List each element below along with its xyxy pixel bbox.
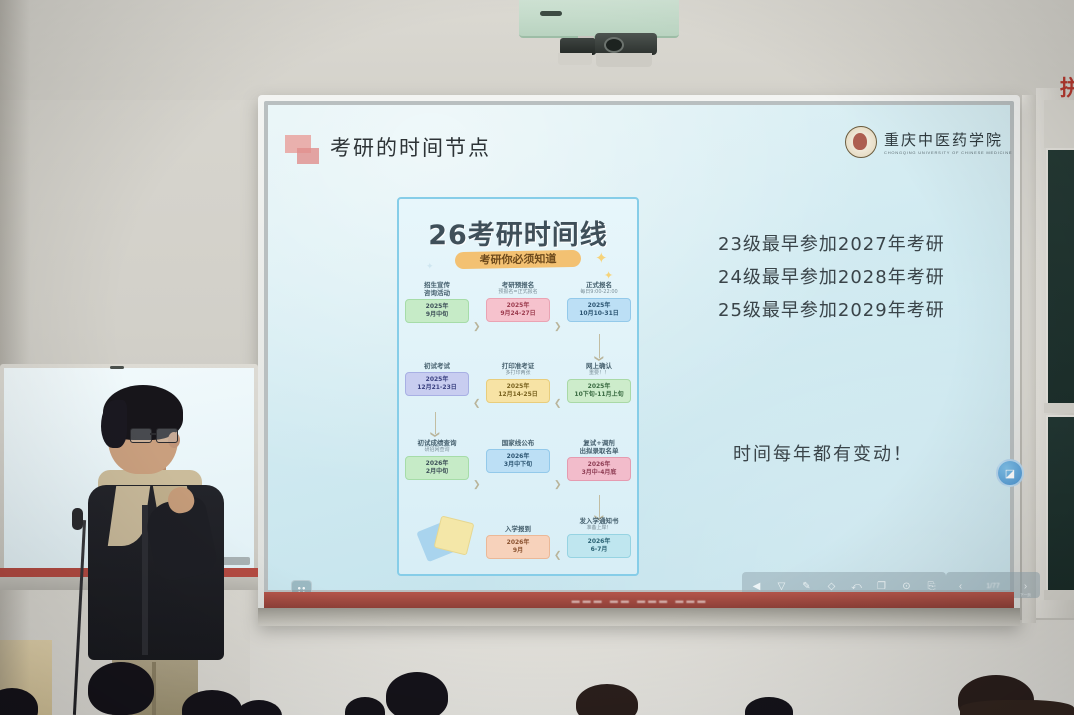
- audience-shoulder: [960, 700, 1074, 715]
- node-caption: 复试+调剂: [583, 439, 614, 447]
- timeline-node: 正式报名 每日9:00-22:00 2025年 10月10-31日: [567, 281, 631, 322]
- slide-note: 时间每年都有变动！: [733, 440, 913, 466]
- chevron-left-icon: ‹: [959, 581, 962, 592]
- title-decoration-square-2: [297, 148, 319, 164]
- school-seal-icon: [845, 126, 877, 158]
- node-caption: 考研预报名: [502, 281, 535, 289]
- node-caption-2: 咨询活动: [424, 289, 450, 297]
- arrow-right-icon: ❯: [554, 321, 562, 332]
- timeline-node: 初试考试 2025年 12月21-23日: [405, 362, 469, 396]
- node-chip: 2025年 10月10-31日: [567, 298, 631, 322]
- chalkboard-top-panel: [1044, 100, 1074, 148]
- chevron-right-icon: ›: [1024, 581, 1027, 592]
- timeline-node: 国家线公布 2026年 3月中下旬: [486, 439, 550, 473]
- arrow-right-icon: ❯: [473, 479, 481, 490]
- page-indicator-value: 1/77: [982, 581, 1004, 592]
- node-caption: 网上确认: [586, 362, 612, 370]
- new-page-icon: ❐: [877, 581, 886, 592]
- timeline-node: 初试成绩查询 研招网查询 2026年 2月中旬: [405, 439, 469, 480]
- bullet-line: 24级最早参加2028年考研: [718, 261, 998, 294]
- projector-bracket: [596, 53, 652, 67]
- arrow-right-icon: ❯: [554, 479, 562, 490]
- arrow-right-icon: ❯: [473, 321, 481, 332]
- microphone-head-icon: [72, 508, 83, 530]
- timeline-row-4: 入学报到 2026年 9月 ❯ 发入学通知书 准备上岸！ 2026年 6-7月: [399, 517, 637, 576]
- collapse-icon: ◀: [753, 581, 761, 592]
- chalkboard-panel-upper: [1046, 148, 1074, 407]
- next-page-button[interactable]: › 下一页: [1013, 579, 1038, 598]
- school-logo: 重庆中医药学院 CHONGQING UNIVERSITY OF CHINESE …: [845, 126, 1012, 158]
- secondary-display-camera-icon: [110, 366, 124, 369]
- node-caption: 正式报名: [586, 281, 612, 289]
- node-caption: 国家线公布: [502, 439, 535, 447]
- timeline-row-3: 初试成绩查询 研招网查询 2026年 2月中旬 ❯ 国家线公布 2026年 3月…: [399, 439, 637, 501]
- node-chip: 2026年 9月: [486, 535, 550, 559]
- glasses-lens-left: [130, 428, 152, 443]
- wall-corner-shadow: [0, 0, 30, 715]
- arrow-left-icon: ❯: [554, 398, 562, 409]
- chalkboard-rail-lower: [1044, 590, 1074, 600]
- sparkle-icon-1: ✦: [595, 249, 608, 267]
- assistant-floating-button[interactable]: ◪: [996, 459, 1024, 487]
- node-chip: 2025年 12月14-25日: [486, 379, 550, 403]
- arrow-left-icon: ❯: [554, 550, 562, 561]
- node-chip: 2025年 12月21-23日: [405, 372, 469, 396]
- slide-bullet-list: 23级最早参加2027年考研 24级最早参加2028年考研 25级最早参加202…: [718, 228, 998, 327]
- node-subcaption: 多打印两张: [486, 370, 550, 377]
- eraser-icon: ◇: [828, 581, 836, 592]
- present-icon: ⎘: [928, 581, 936, 592]
- node-chip: 2026年 3月中-4月底: [567, 457, 631, 481]
- node-subcaption-alert: 重要！！: [589, 370, 609, 376]
- chalkboard-rail-upper: [1044, 403, 1074, 413]
- timeline-row-1: 招生宣传 咨询活动 2025年 9月中旬 ❯ 考研预报名 预报名=正式报名 20…: [399, 281, 637, 343]
- chalkboard-panel-lower: [1046, 415, 1074, 594]
- audience-head: [88, 662, 154, 715]
- infographic-subhead: 考研你必须知道: [455, 250, 581, 269]
- node-chip: 2025年 10下旬-11月上旬: [567, 379, 631, 403]
- node-chip: 2026年 2月中旬: [405, 456, 469, 480]
- node-chip: 2026年 3月中下旬: [486, 449, 550, 473]
- node-caption: 发入学通知书: [580, 517, 619, 525]
- shape-circle-icon: ⊙: [902, 581, 910, 592]
- timeline-node: 发入学通知书 准备上岸！ 2026年 6-7月: [567, 517, 631, 558]
- page-title: 考研的时间节点: [330, 132, 491, 162]
- timeline-node: 考研预报名 预报名=正式报名 2025年 9月24-27日: [486, 281, 550, 322]
- sparkle-icon-3: ✦: [426, 261, 434, 272]
- board-right-post: [1022, 95, 1036, 623]
- node-chip: 2025年 9月中旬: [405, 299, 469, 323]
- timeline-node: 打印准考证 多打印两张 2025年 12月14-25日: [486, 362, 550, 403]
- board-strip-text: ▬▬▬ ▬▬ ▬▬▬ ▬▬▬: [300, 594, 980, 607]
- screen-glare: [268, 105, 1010, 590]
- arrow-left-icon: ❯: [473, 398, 481, 409]
- node-caption: 入学报到: [505, 525, 531, 533]
- node-caption: 初试考试: [424, 362, 450, 370]
- bullet-line: 25级最早参加2029年考研: [718, 294, 998, 327]
- next-page-label: 下一页: [1020, 592, 1031, 598]
- node-caption: 招生宣传: [424, 281, 450, 289]
- projected-slide[interactable]: [268, 105, 1010, 590]
- infographic-headline: 26考研时间线: [399, 213, 637, 252]
- node-caption-2: 出拟录取名单: [580, 447, 619, 455]
- timeline-node: 招生宣传 咨询活动 2025年 9月中旬: [405, 281, 469, 323]
- school-name-en: CHONGQING UNIVERSITY OF CHINESE MEDICINE: [884, 150, 1012, 155]
- undo-icon: ⤺: [851, 581, 862, 592]
- timeline-node: 入学报到 2026年 9月: [486, 517, 550, 559]
- node-chip: 2026年 6-7月: [567, 534, 631, 558]
- node-subcaption-alert: 准备上岸！: [586, 525, 611, 531]
- infographic-subhead-pill: 考研你必须知道: [455, 250, 581, 269]
- node-chip: 2025年 9月24-27日: [486, 298, 550, 322]
- projector-bracket-left: [558, 53, 592, 65]
- projector-lens-icon: [604, 37, 624, 53]
- node-caption: 初试成绩查询: [418, 439, 457, 447]
- pen-icon: ✎: [802, 581, 810, 592]
- timeline-row-2: 初试考试 2025年 12月21-23日 ❯ 打印准考证 多打印两张 2025年…: [399, 362, 637, 424]
- presenter-hair-side: [101, 400, 127, 448]
- timeline-node: 网上确认 重要！！ 2025年 10下旬-11月上旬: [567, 362, 631, 403]
- glasses-lens-right: [156, 428, 178, 443]
- school-name-cn: 重庆中医药学院: [884, 129, 1012, 150]
- red-banner-text: 拼: [1060, 72, 1074, 100]
- node-subcaption: 每日9:00-22:00: [567, 289, 631, 296]
- timeline-infographic: 26考研时间线 考研你必须知道 ✦ ✦ ✦ 招生宣传 咨询活动 2025年 9月…: [397, 197, 639, 576]
- cursor-icon: ▽: [778, 581, 786, 592]
- classroom-scene: 拼 考研的时间节点 重庆中医药学院 CHONGQING UNIVERSITY O…: [0, 0, 1074, 715]
- node-caption: 打印准考证: [502, 362, 535, 370]
- ceiling-vent-slot: [540, 11, 562, 16]
- board-bottom-shadow: [258, 608, 1020, 626]
- arrow-down-icon: ❯: [429, 431, 440, 439]
- audience-head: [386, 672, 448, 715]
- bullet-line: 23级最早参加2027年考研: [718, 228, 998, 261]
- glasses-bridge: [150, 433, 157, 435]
- node-subcaption: 研招网查询: [405, 447, 469, 454]
- node-subcaption: 预报名=正式报名: [486, 289, 550, 296]
- timeline-node: 复试+调剂 出拟录取名单 2026年 3月中-4月底: [567, 439, 631, 481]
- presenter-glasses: [130, 428, 178, 442]
